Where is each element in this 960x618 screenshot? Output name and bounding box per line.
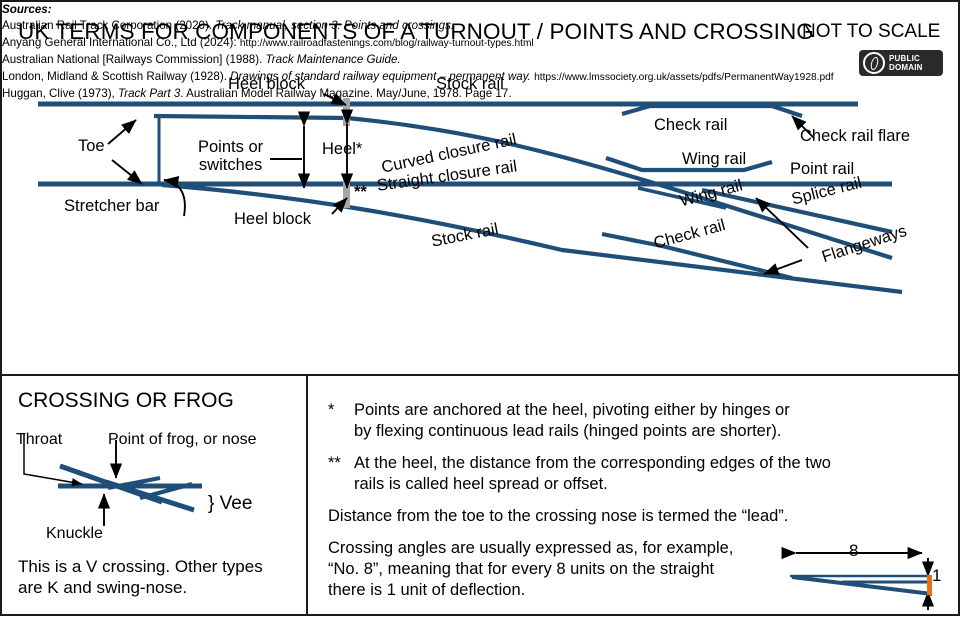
note-angle-line-1: Crossing angles are usually expressed as… bbox=[328, 539, 733, 557]
deflection-marker bbox=[927, 575, 932, 595]
note-lead: Distance from the toe to the crossing no… bbox=[328, 506, 928, 527]
note-marker: ** bbox=[328, 453, 354, 495]
panel-divider-vertical bbox=[306, 374, 308, 614]
arrow-throat bbox=[24, 434, 82, 484]
label-double-asterisk: ** bbox=[354, 184, 367, 201]
heel-block-upper bbox=[343, 98, 350, 126]
note-angle-line-3: there is 1 unit of deflection. bbox=[328, 581, 525, 599]
diagram-page: UK TERMS FOR COMPONENTS OF A TURNOUT / P… bbox=[0, 0, 960, 616]
note-line-2: rails is called heel spread or offset. bbox=[354, 475, 608, 493]
note-body: Points are anchored at the heel, pivotin… bbox=[354, 400, 928, 442]
note-lead-text: Distance from the toe to the crossing no… bbox=[328, 507, 788, 525]
arrow-flangeway-lower bbox=[764, 260, 802, 274]
note-body: At the heel, the distance from the corre… bbox=[354, 453, 928, 495]
label-stretcher-bar: Stretcher bar bbox=[64, 198, 159, 215]
label-stock-rail-top: Stock rail bbox=[436, 76, 504, 93]
ratio-rail-diagonal bbox=[792, 577, 932, 594]
note-line-1: Points are anchored at the heel, pivotin… bbox=[354, 401, 790, 419]
label-heel-block-top: Heel block bbox=[228, 76, 305, 93]
note-marker: * bbox=[328, 400, 354, 442]
rail-check-upper bbox=[622, 106, 802, 116]
ratio-sketch bbox=[782, 536, 960, 616]
arrow-toe-down bbox=[112, 160, 142, 184]
label-heel: Heel* bbox=[322, 141, 362, 158]
label-toe: Toe bbox=[78, 138, 105, 155]
frog-panel-footer: This is a V crossing. Other types are K … bbox=[18, 556, 263, 598]
label-heel-block-bottom: Heel block bbox=[234, 211, 311, 228]
arrow-toe-up bbox=[108, 120, 136, 144]
note-angle-line-2: “No. 8”, meaning that for every 8 units … bbox=[328, 560, 714, 578]
frog-footer-line-2: are K and swing-nose. bbox=[18, 578, 187, 597]
rail-curved-closure bbox=[154, 116, 892, 258]
frog-footer-line-1: This is a V crossing. Other types bbox=[18, 557, 263, 576]
label-points-or-switches: Points or switches bbox=[198, 138, 263, 174]
note-item: ** At the heel, the distance from the co… bbox=[328, 453, 928, 495]
note-item: * Points are anchored at the heel, pivot… bbox=[328, 400, 928, 442]
note-line-1: At the heel, the distance from the corre… bbox=[354, 454, 831, 472]
note-line-2: by flexing continuous lead rails (hinged… bbox=[354, 422, 781, 440]
label-wing-rail-upper: Wing rail bbox=[682, 151, 746, 168]
label-points-line-1: Points or bbox=[198, 138, 263, 156]
label-point-rail: Point rail bbox=[790, 161, 854, 178]
label-points-line-2: switches bbox=[199, 156, 262, 174]
label-check-rail-flare: Check rail flare bbox=[800, 128, 910, 145]
label-check-rail-upper: Check rail bbox=[654, 117, 727, 134]
